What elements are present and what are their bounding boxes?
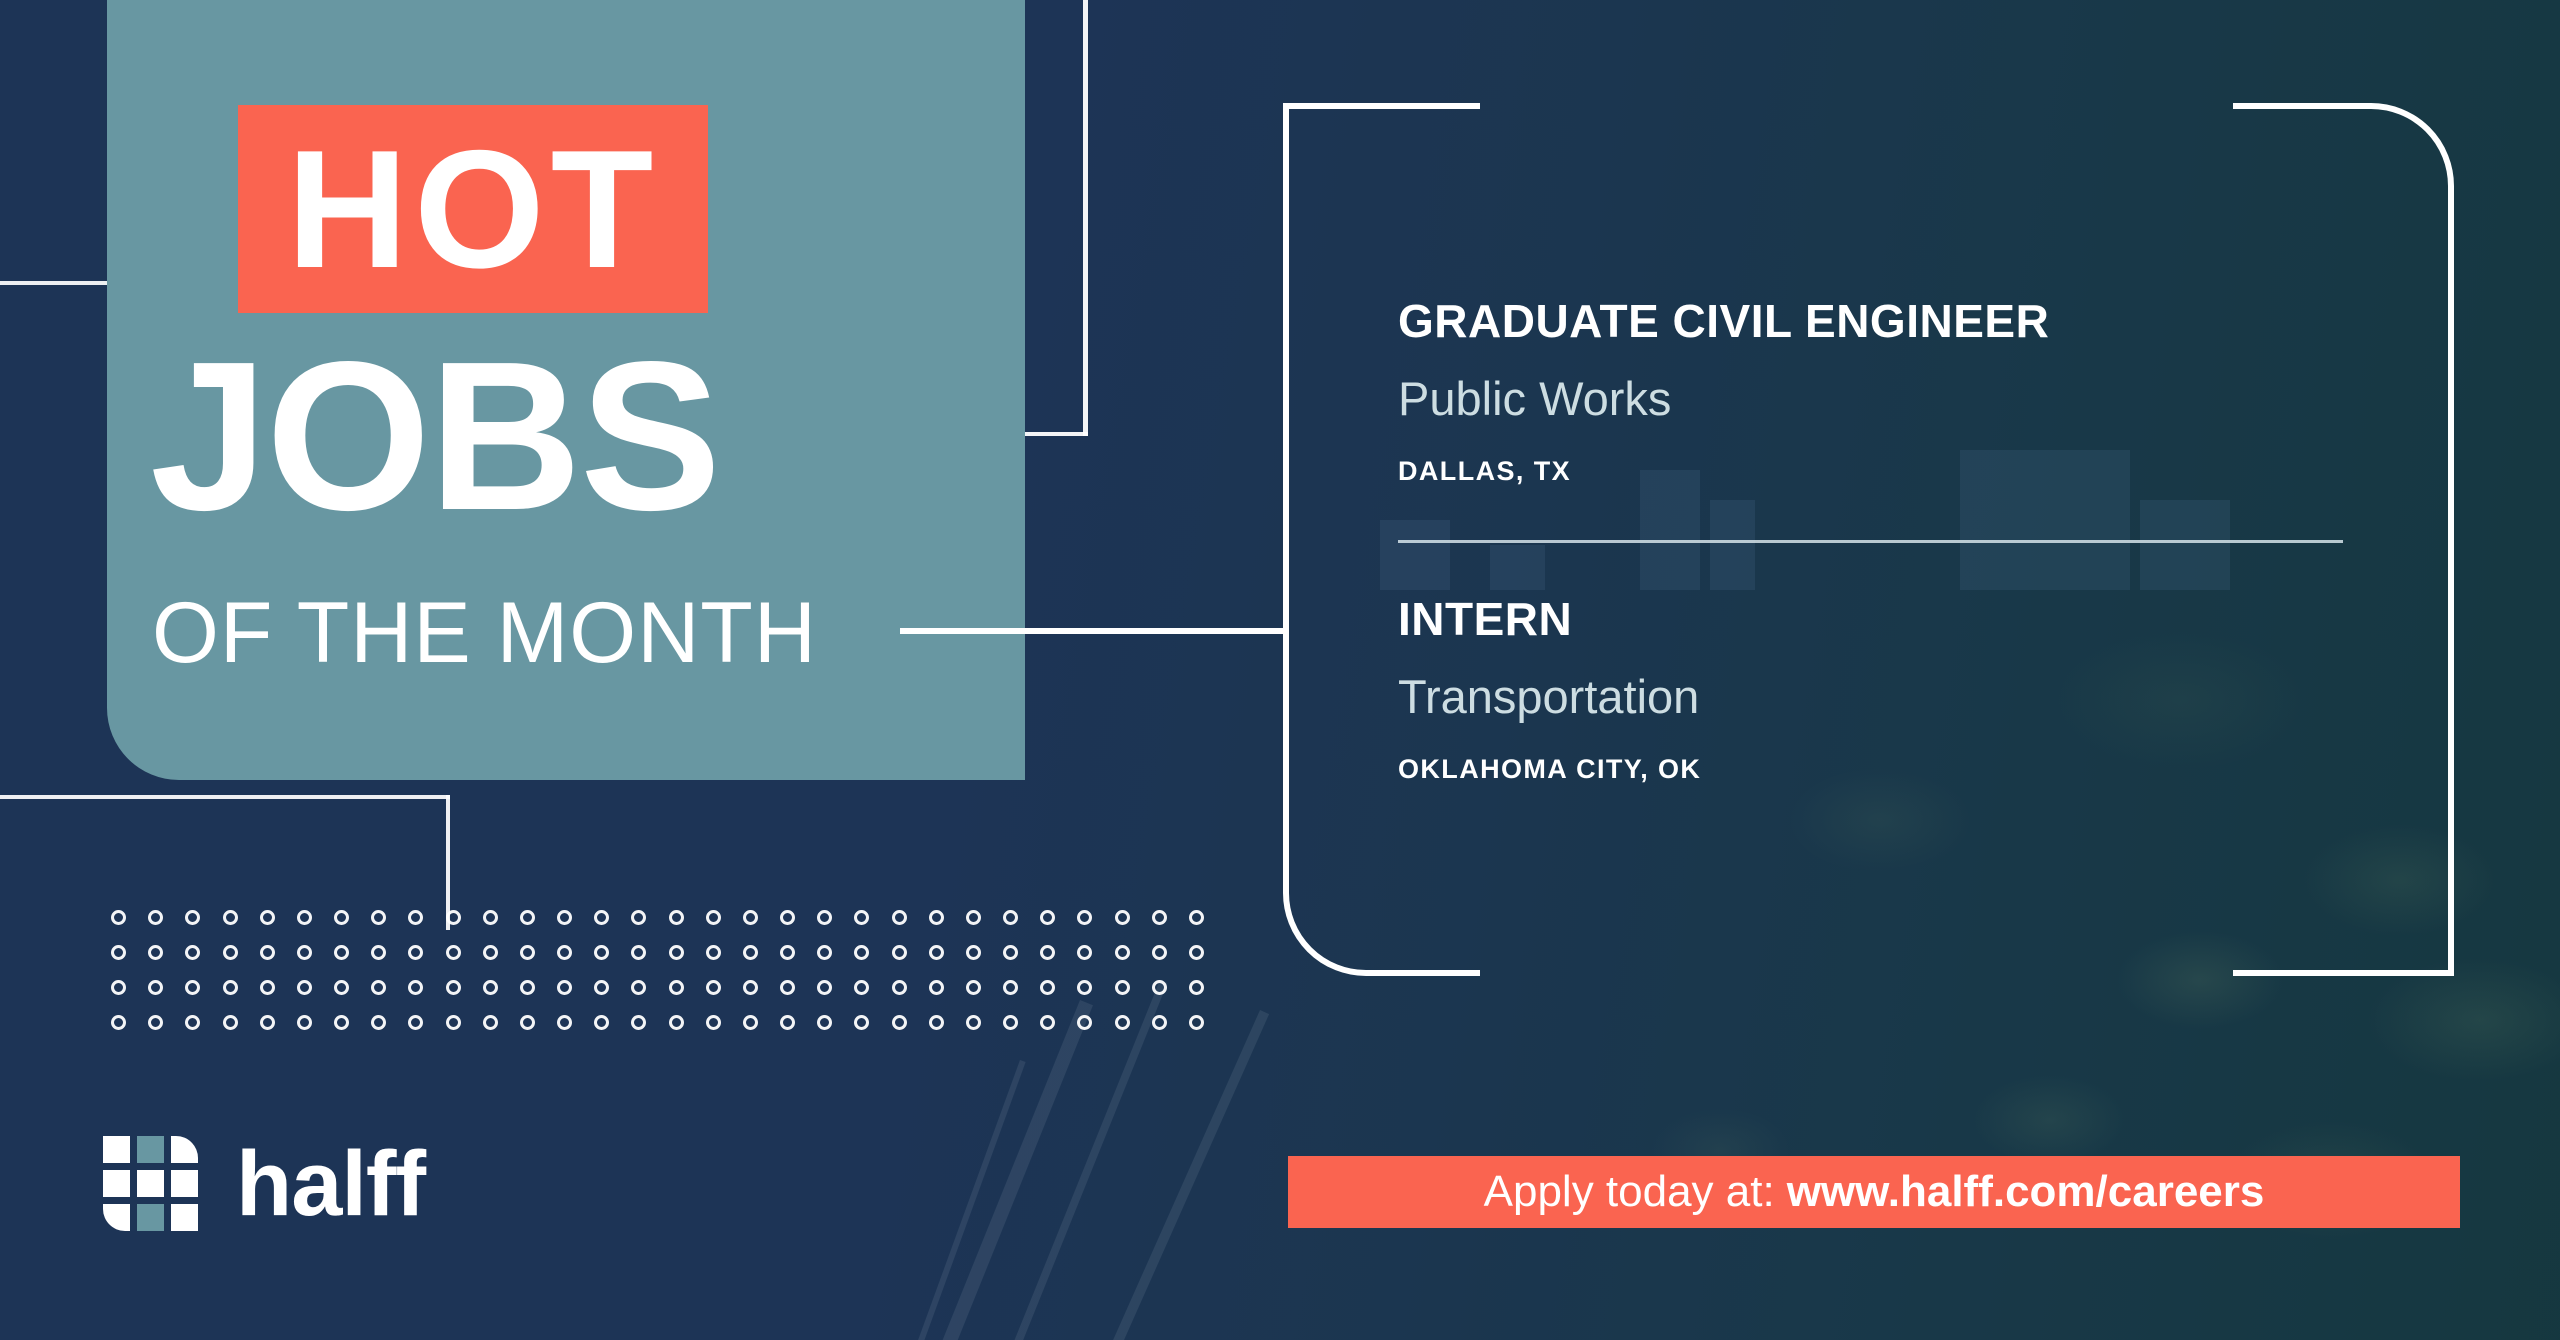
logo-cell [103, 1204, 130, 1231]
decor-dot [1189, 910, 1204, 925]
decor-dot [817, 910, 832, 925]
logo-cell-accent [137, 1136, 164, 1163]
decor-dot [334, 910, 349, 925]
decor-dot [371, 910, 386, 925]
decor-dot [520, 980, 535, 995]
decor-dot [520, 910, 535, 925]
decor-dot [1077, 1015, 1092, 1030]
decor-dot [557, 945, 572, 960]
decor-dot [669, 945, 684, 960]
headline-jobs: JOBS [150, 330, 719, 542]
decor-dot [854, 945, 869, 960]
decor-line-vertical-top-foot [1020, 432, 1088, 436]
decor-dot [1077, 910, 1092, 925]
decor-dot [1152, 1015, 1167, 1030]
halff-grid-icon [103, 1136, 198, 1231]
decor-line-bottom-left-horizontal [0, 795, 450, 799]
decor-dot [1152, 980, 1167, 995]
dot-matrix-decoration [100, 900, 1215, 1040]
decor-dot [446, 910, 461, 925]
decor-dot [260, 910, 275, 925]
decor-dot [854, 910, 869, 925]
decor-dot [854, 1015, 869, 1030]
decor-dot [446, 945, 461, 960]
decor-dot [260, 1015, 275, 1030]
logo-cell [171, 1136, 198, 1163]
decor-dot [594, 980, 609, 995]
decor-dot [1040, 910, 1055, 925]
decor-dot [1040, 1015, 1055, 1030]
decor-dot [631, 1015, 646, 1030]
decor-dot [1003, 910, 1018, 925]
hot-jobs-poster: HOT JOBS OF THE MONTH GRADUATE CIVIL ENG… [0, 0, 2560, 1340]
decor-dot [223, 910, 238, 925]
decor-dot [111, 1015, 126, 1030]
decor-dot [929, 1015, 944, 1030]
decor-dot [966, 910, 981, 925]
decor-dot [892, 1015, 907, 1030]
decor-dot [408, 945, 423, 960]
decor-dot [1152, 910, 1167, 925]
decor-dot [334, 945, 349, 960]
decor-dot [1189, 945, 1204, 960]
decor-dot [483, 910, 498, 925]
decor-dot [594, 945, 609, 960]
decor-dot [483, 945, 498, 960]
jobs-list: GRADUATE CIVIL ENGINEER Public Works DAL… [1398, 295, 2398, 785]
hot-badge-label: HOT [238, 105, 708, 313]
decor-dot [1115, 1015, 1130, 1030]
decor-dot [185, 910, 200, 925]
decor-dot [743, 1015, 758, 1030]
decor-dot [334, 980, 349, 995]
logo-cell [137, 1170, 164, 1197]
decor-dot [148, 1015, 163, 1030]
apply-cta-banner[interactable]: Apply today at: www.halff.com/careers [1288, 1156, 2460, 1228]
decor-dot [706, 1015, 721, 1030]
decor-dot [594, 910, 609, 925]
decor-dot [371, 945, 386, 960]
decor-dot [706, 945, 721, 960]
decor-dot [297, 910, 312, 925]
job-list-divider [1398, 540, 2343, 543]
decor-dot [892, 980, 907, 995]
decor-dot [1040, 980, 1055, 995]
decor-dot [817, 1015, 832, 1030]
decor-dot [557, 980, 572, 995]
decor-dot [1189, 1015, 1204, 1030]
decor-dot [743, 980, 758, 995]
logo-cell [103, 1170, 130, 1197]
decor-dot [408, 910, 423, 925]
decor-dot [929, 980, 944, 995]
decor-dot [631, 910, 646, 925]
decor-dot [297, 1015, 312, 1030]
decor-dot [1077, 945, 1092, 960]
job-listing: GRADUATE CIVIL ENGINEER Public Works DAL… [1398, 295, 2398, 487]
decor-dot [817, 945, 832, 960]
decor-dot [594, 1015, 609, 1030]
decor-dot [1152, 945, 1167, 960]
decor-dot [854, 980, 869, 995]
decor-dot [111, 945, 126, 960]
job-location: OKLAHOMA CITY, OK [1398, 754, 2398, 785]
decor-dot [223, 945, 238, 960]
decor-dot [966, 1015, 981, 1030]
decor-dot [223, 980, 238, 995]
decor-dot [1115, 980, 1130, 995]
job-location: DALLAS, TX [1398, 456, 2398, 487]
decor-dot [669, 980, 684, 995]
decor-dot [446, 1015, 461, 1030]
decor-dot [223, 1015, 238, 1030]
decor-dot [334, 1015, 349, 1030]
brand-logo: halff [103, 1136, 425, 1231]
logo-cell [171, 1170, 198, 1197]
decor-dot [1040, 945, 1055, 960]
decor-dot [557, 1015, 572, 1030]
decor-dot [669, 910, 684, 925]
job-title: GRADUATE CIVIL ENGINEER [1398, 295, 2398, 348]
decor-dot [185, 1015, 200, 1030]
decor-dot [1003, 980, 1018, 995]
decor-dot [371, 980, 386, 995]
decor-dot [1003, 945, 1018, 960]
decor-line-left-tick [0, 281, 108, 285]
decor-dot [185, 980, 200, 995]
job-title: INTERN [1398, 593, 2398, 646]
decor-line-vertical-top [1083, 0, 1088, 436]
decor-dot [929, 910, 944, 925]
decor-dot [966, 980, 981, 995]
logo-cell [171, 1204, 198, 1231]
decor-dot [780, 1015, 795, 1030]
decor-dot [520, 1015, 535, 1030]
decor-dot [706, 980, 721, 995]
decor-dot [520, 945, 535, 960]
job-listing: INTERN Transportation OKLAHOMA CITY, OK [1398, 593, 2398, 785]
decor-dot [483, 1015, 498, 1030]
decor-dot [260, 980, 275, 995]
decor-dot [929, 945, 944, 960]
decor-dot [780, 980, 795, 995]
decor-dot [817, 980, 832, 995]
decor-dot [631, 945, 646, 960]
decor-dot [557, 910, 572, 925]
decor-dot [371, 1015, 386, 1030]
decor-dot [260, 945, 275, 960]
decor-dot [111, 910, 126, 925]
decor-dot [446, 980, 461, 995]
logo-cell [103, 1136, 130, 1163]
decor-dot [780, 910, 795, 925]
logo-cell-accent [137, 1204, 164, 1231]
decor-dot [966, 945, 981, 960]
decor-dot [297, 980, 312, 995]
decor-dot [1115, 910, 1130, 925]
decor-dot [780, 945, 795, 960]
decor-dot [1077, 980, 1092, 995]
decor-dot [483, 980, 498, 995]
headline-subtitle: OF THE MONTH [152, 590, 817, 676]
decor-dot [148, 945, 163, 960]
decor-dot [892, 945, 907, 960]
decor-dot [1115, 945, 1130, 960]
decor-dot [148, 980, 163, 995]
decor-dot [297, 945, 312, 960]
decor-dot [669, 1015, 684, 1030]
cta-url-label[interactable]: www.halff.com/careers [1787, 1167, 2265, 1217]
decor-dot [111, 980, 126, 995]
brand-wordmark: halff [236, 1138, 425, 1230]
decor-dot [408, 1015, 423, 1030]
decor-dot [631, 980, 646, 995]
decor-dot [1003, 1015, 1018, 1030]
decor-dot [892, 910, 907, 925]
decor-line-subtitle-rule [900, 628, 1285, 634]
decor-dot [148, 910, 163, 925]
decor-dot [185, 945, 200, 960]
cta-prefix-label: Apply today at: [1484, 1167, 1775, 1217]
decor-dot [706, 910, 721, 925]
job-department: Transportation [1398, 670, 2398, 724]
decor-dot [743, 910, 758, 925]
decor-dot [408, 980, 423, 995]
job-department: Public Works [1398, 372, 2398, 426]
decor-dot [1189, 980, 1204, 995]
decor-dot [743, 945, 758, 960]
